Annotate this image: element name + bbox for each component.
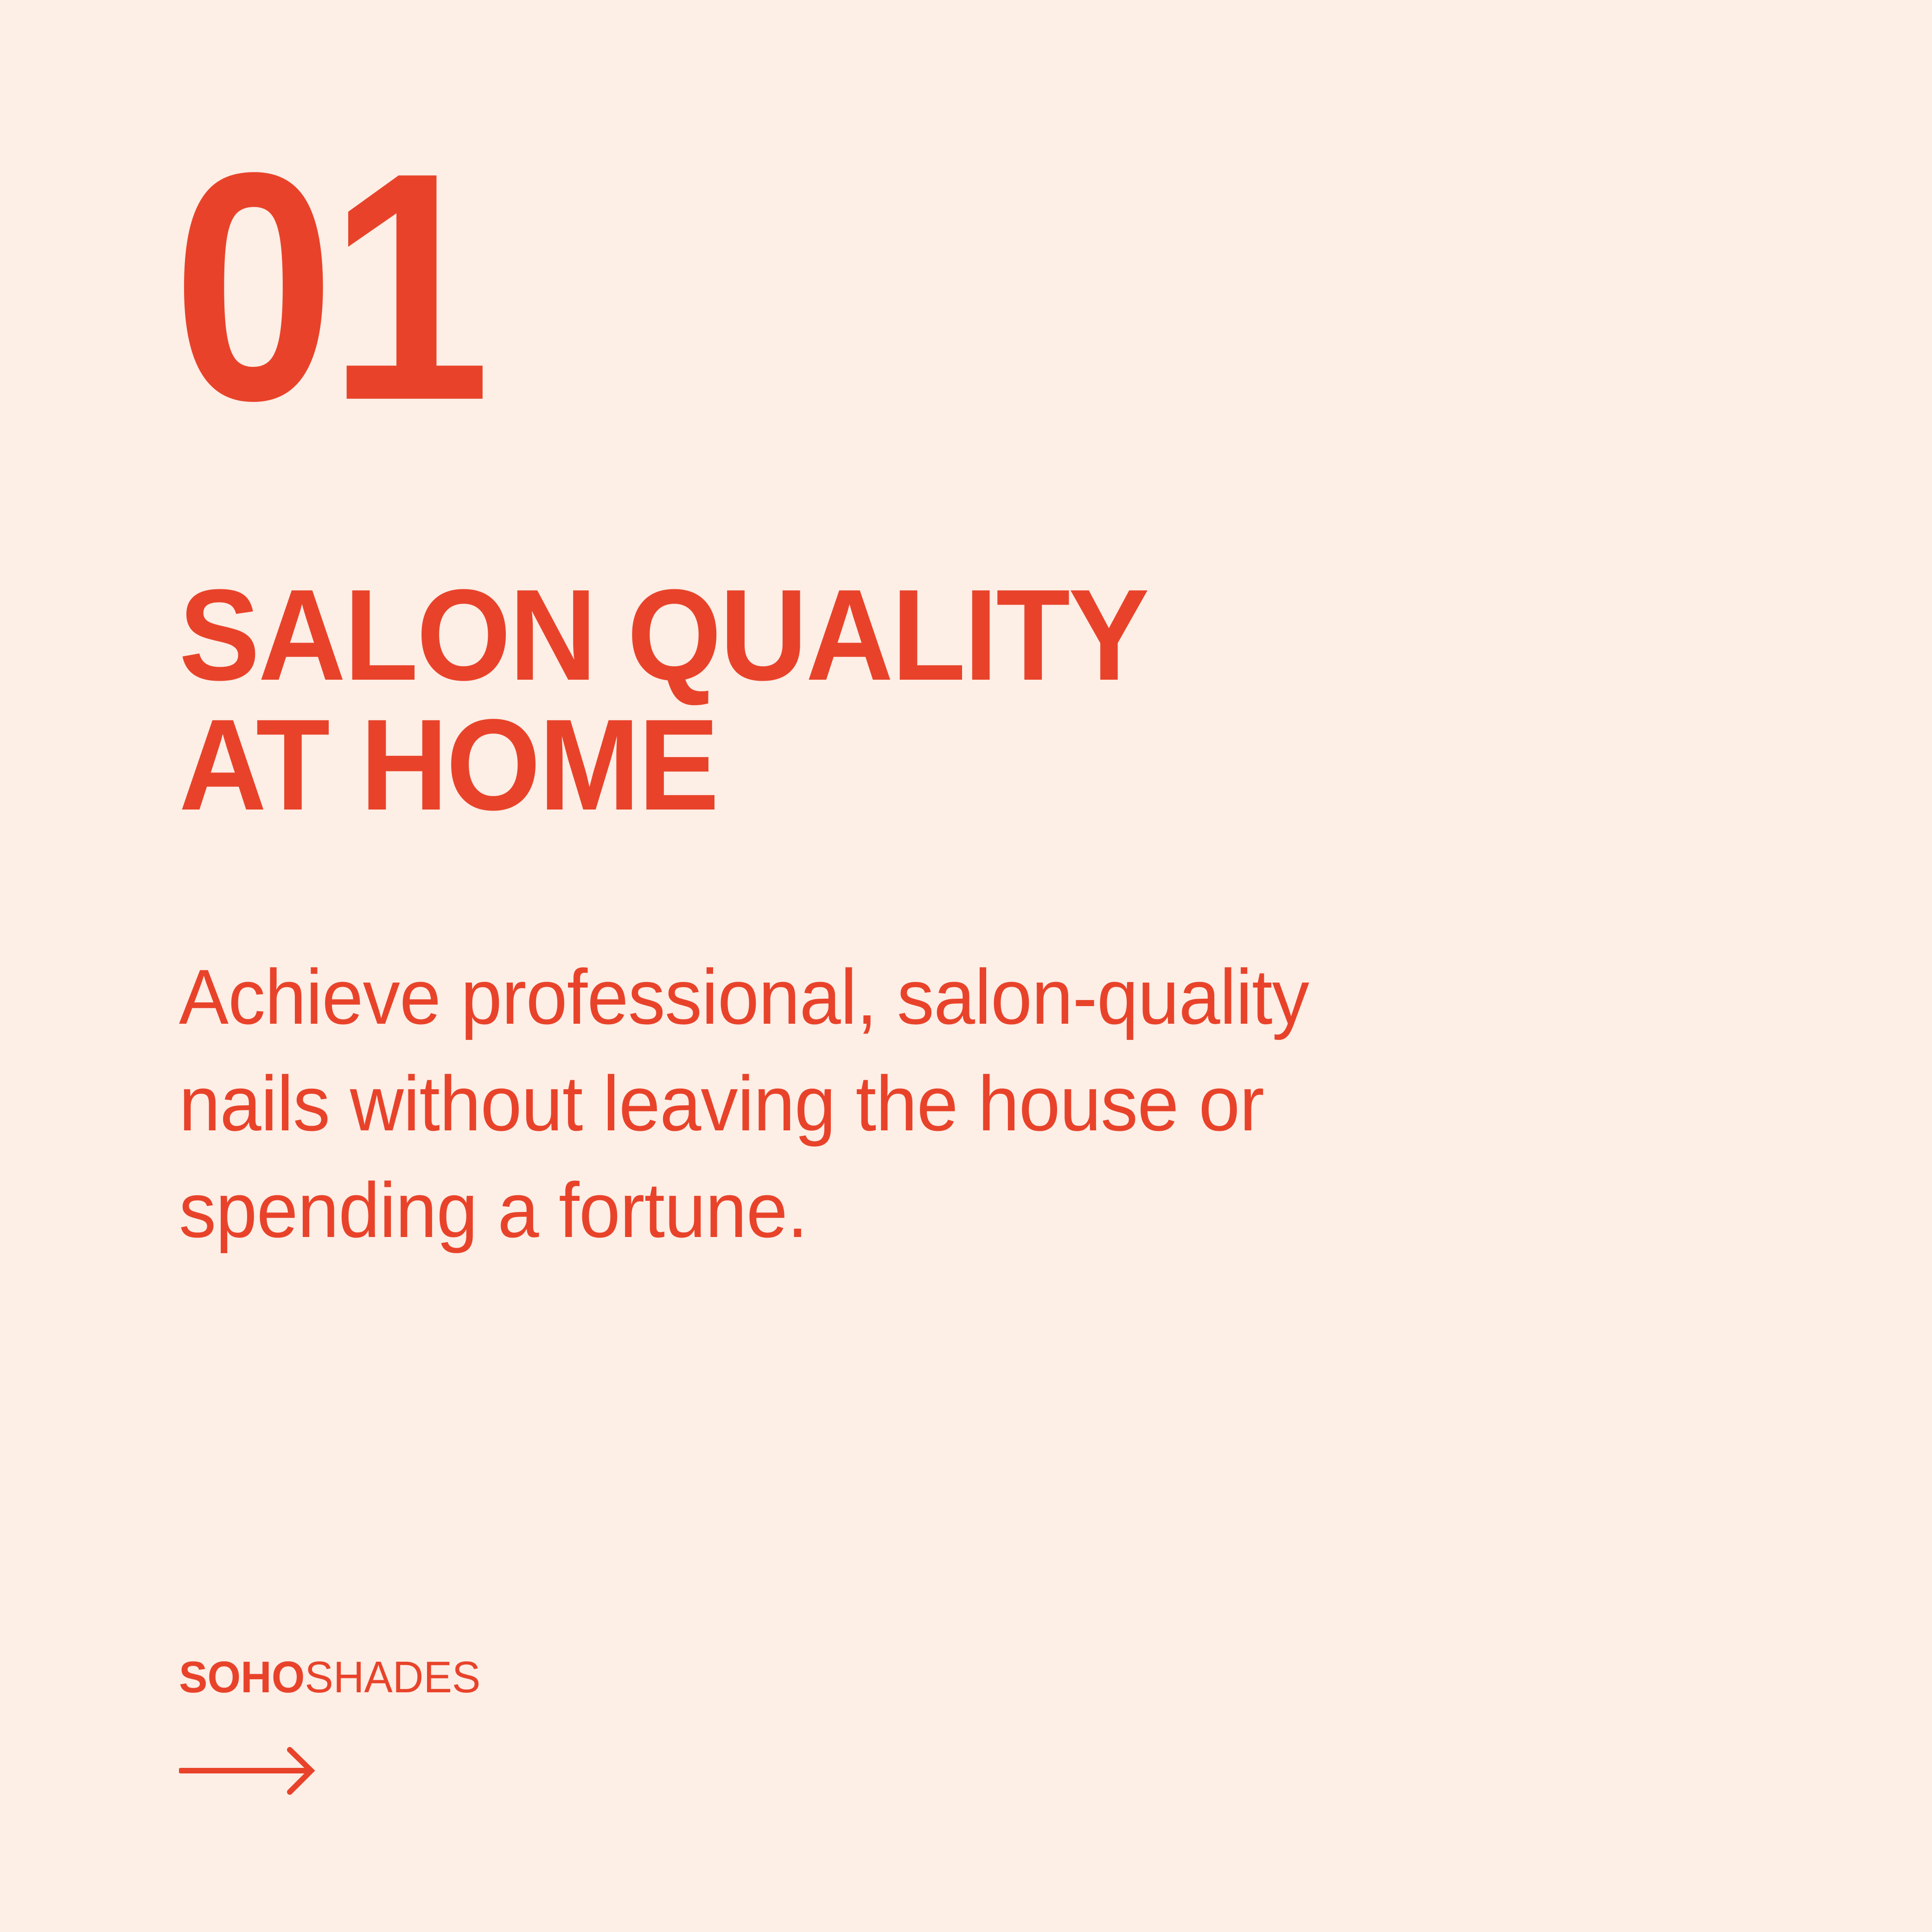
step-number: 01 xyxy=(172,124,484,449)
arrow-right-icon[interactable] xyxy=(179,1745,318,1796)
page-title: SALON QUALITY AT HOME xyxy=(179,570,1524,830)
brand-logo: SOHOSHADES xyxy=(179,1655,480,1700)
footer: SOHOSHADES xyxy=(179,1655,493,1796)
body-line-3: spending a fortune. xyxy=(179,1157,1375,1263)
body-line-2: nails without leaving the house or xyxy=(179,1050,1375,1157)
brand-logo-light: SHADES xyxy=(305,1652,480,1702)
body-paragraph: Achieve professional, salon-quality nail… xyxy=(179,944,1431,1263)
headline-line-1: SALON QUALITY xyxy=(179,570,1436,700)
body-line-1: Achieve professional, salon-quality xyxy=(179,944,1375,1050)
slide-canvas: 01 SALON QUALITY AT HOME Achieve profess… xyxy=(0,0,1932,1932)
brand-logo-bold: SOHO xyxy=(179,1652,305,1702)
headline-line-2: AT HOME xyxy=(179,700,1436,830)
